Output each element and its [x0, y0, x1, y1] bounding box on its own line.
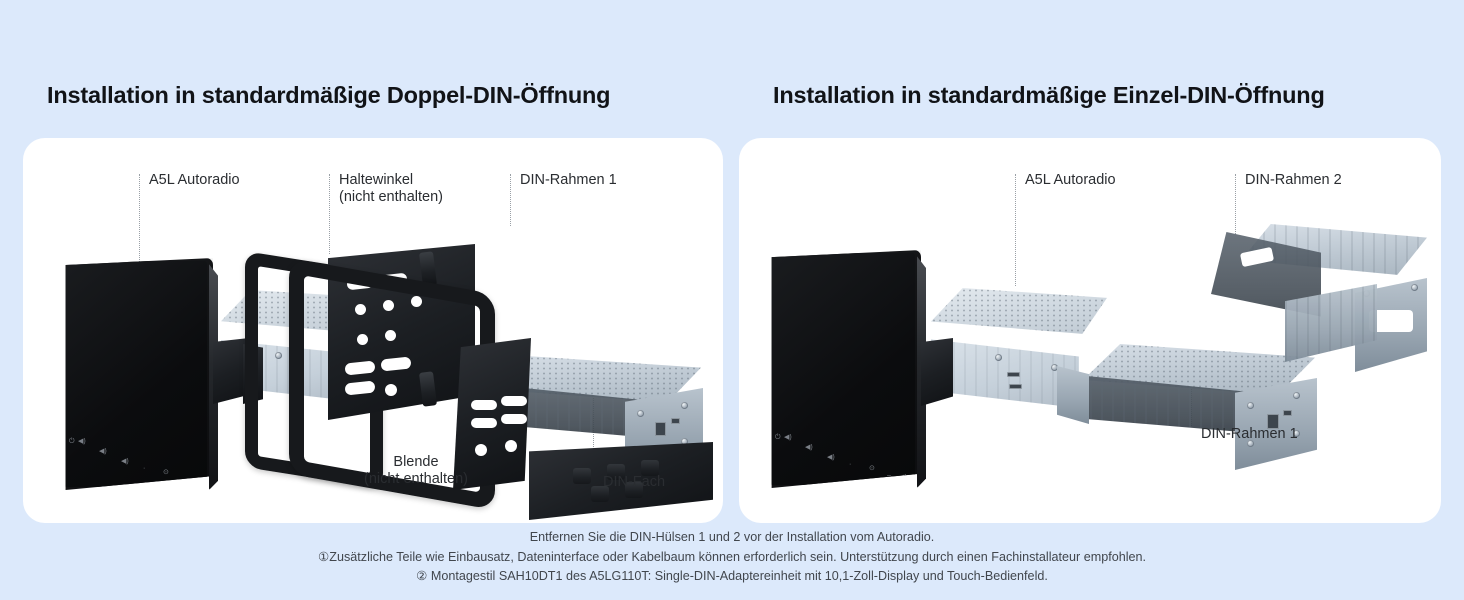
- home-icon: ⊙: [163, 469, 169, 476]
- minus-icon: –: [887, 472, 891, 479]
- prev-track-icon: ◀|: [899, 474, 906, 481]
- callout-haltewinkel: Haltewinkel (nicht enthalten): [339, 172, 443, 206]
- callout-din-fach: DIN-Fach: [603, 474, 665, 491]
- volume-down-icon: ◀): [78, 438, 86, 445]
- panel-title-double-din: Installation in standardmäßige Doppel-DI…: [47, 82, 610, 109]
- next-track-icon: |▶: [911, 477, 917, 491]
- callout-a5l-autoradio: A5L Autoradio: [149, 172, 240, 189]
- chassis-screw: [995, 354, 1002, 361]
- din-rahmen-2-cage: [1205, 224, 1427, 400]
- exploded-view-double-din: ⏻ ◀) ◀) ◀) · ⊙ – ◀| |▶: [23, 138, 723, 523]
- leader-line-din-rahmen-1: [510, 174, 512, 226]
- callout-din-rahmen-1: DIN-Rahmen 1: [1201, 426, 1298, 443]
- panel-card-single-din: ⏻ ◀) ◀) ◀) · ⊙ – ◀| |▶: [739, 138, 1441, 523]
- prev-track-icon: ◀|: [193, 478, 200, 485]
- chassis-port: [1009, 384, 1022, 389]
- callout-blende: Blende (nicht enthalten): [364, 454, 468, 488]
- chassis-port: [1007, 372, 1020, 377]
- footer-notes: Entfernen Sie die DIN-Hülsen 1 und 2 vor…: [0, 528, 1464, 587]
- home-icon: ⊙: [869, 465, 875, 472]
- volume-down-icon: ◀): [784, 434, 792, 441]
- callout-a5l-autoradio: A5L Autoradio: [1025, 172, 1116, 189]
- power-icon: ⏻: [775, 434, 781, 441]
- footer-line-3: ② Montagestil SAH10DT1 des A5LG110T: Sin…: [0, 567, 1464, 587]
- leader-line-haltewinkel: [329, 174, 331, 254]
- panel-card-double-din: ⏻ ◀) ◀) ◀) · ⊙ – ◀| |▶: [23, 138, 723, 523]
- footer-line-1: Entfernen Sie die DIN-Hülsen 1 und 2 vor…: [0, 528, 1464, 548]
- callout-din-rahmen-1: DIN-Rahmen 1: [520, 172, 617, 189]
- minus-icon: –: [181, 476, 185, 483]
- leader-line-a5l: [1015, 174, 1017, 286]
- volume-up-icon: ◀): [805, 444, 813, 451]
- a5l-head-unit-display: ⏻ ◀) ◀) ◀) · ⊙ – ◀| |▶: [61, 258, 231, 498]
- volume-up-icon: ◀): [99, 448, 107, 455]
- power-icon: ⏻: [69, 438, 75, 445]
- panel-title-single-din: Installation in standardmäßige Einzel-DI…: [773, 82, 1325, 109]
- volume-mid-icon: ◀): [827, 454, 835, 461]
- installation-diagram-page: Installation in standardmäßige Doppel-DI…: [0, 0, 1464, 600]
- volume-mid-icon: ◀): [121, 458, 129, 465]
- dot-icon: ·: [143, 465, 145, 472]
- a5l-head-unit-display: ⏻ ◀) ◀) ◀) · ⊙ – ◀| |▶: [767, 250, 937, 496]
- footer-line-2: ①Zusätzliche Teile wie Einbausatz, Daten…: [0, 548, 1464, 568]
- exploded-view-single-din: ⏻ ◀) ◀) ◀) · ⊙ – ◀| |▶: [739, 138, 1441, 523]
- dot-icon: ·: [849, 461, 851, 468]
- callout-din-rahmen-2: DIN-Rahmen 2: [1245, 172, 1342, 189]
